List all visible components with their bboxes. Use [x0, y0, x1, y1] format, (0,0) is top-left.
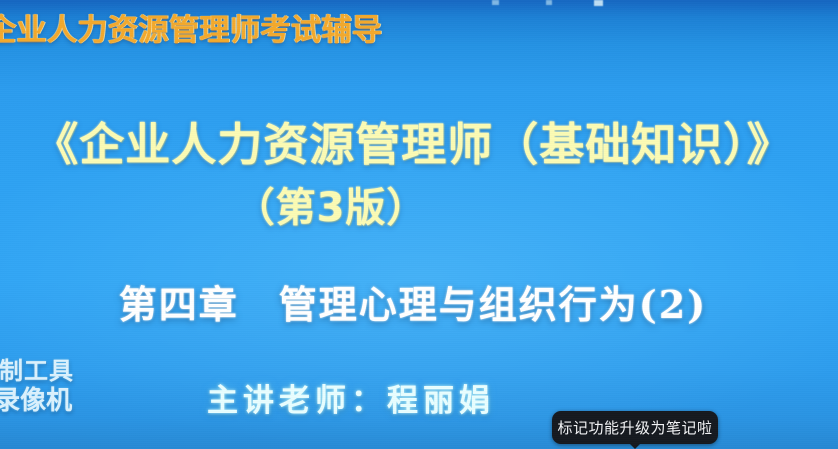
book-title: 《企业人力资源管理师（基础知识）》 [0, 118, 832, 172]
video-slide-frame: 企业人力资源管理师考试辅导 《企业人力资源管理师（基础知识）》 （第3版） 第四… [0, 0, 838, 449]
note-feature-tooltip-label: 标记功能升级为笔记啦 [557, 419, 712, 437]
top-edge-remnant-3 [594, 0, 603, 6]
tooltip-pointer-icon [629, 443, 641, 449]
course-banner-text: 企业人力资源管理师考试辅导 [0, 16, 383, 46]
slide-title-block: 《企业人力资源管理师（基础知识）》 （第3版） [0, 118, 838, 232]
book-edition: （第3版） [0, 184, 750, 232]
chapter-heading: 第四章 管理心理与组织行为(2) [0, 281, 832, 329]
top-edge-remnant-1 [492, 0, 499, 5]
top-edge-remnant-2 [546, 0, 552, 5]
note-feature-tooltip[interactable]: 标记功能升级为笔记啦 [552, 411, 718, 444]
